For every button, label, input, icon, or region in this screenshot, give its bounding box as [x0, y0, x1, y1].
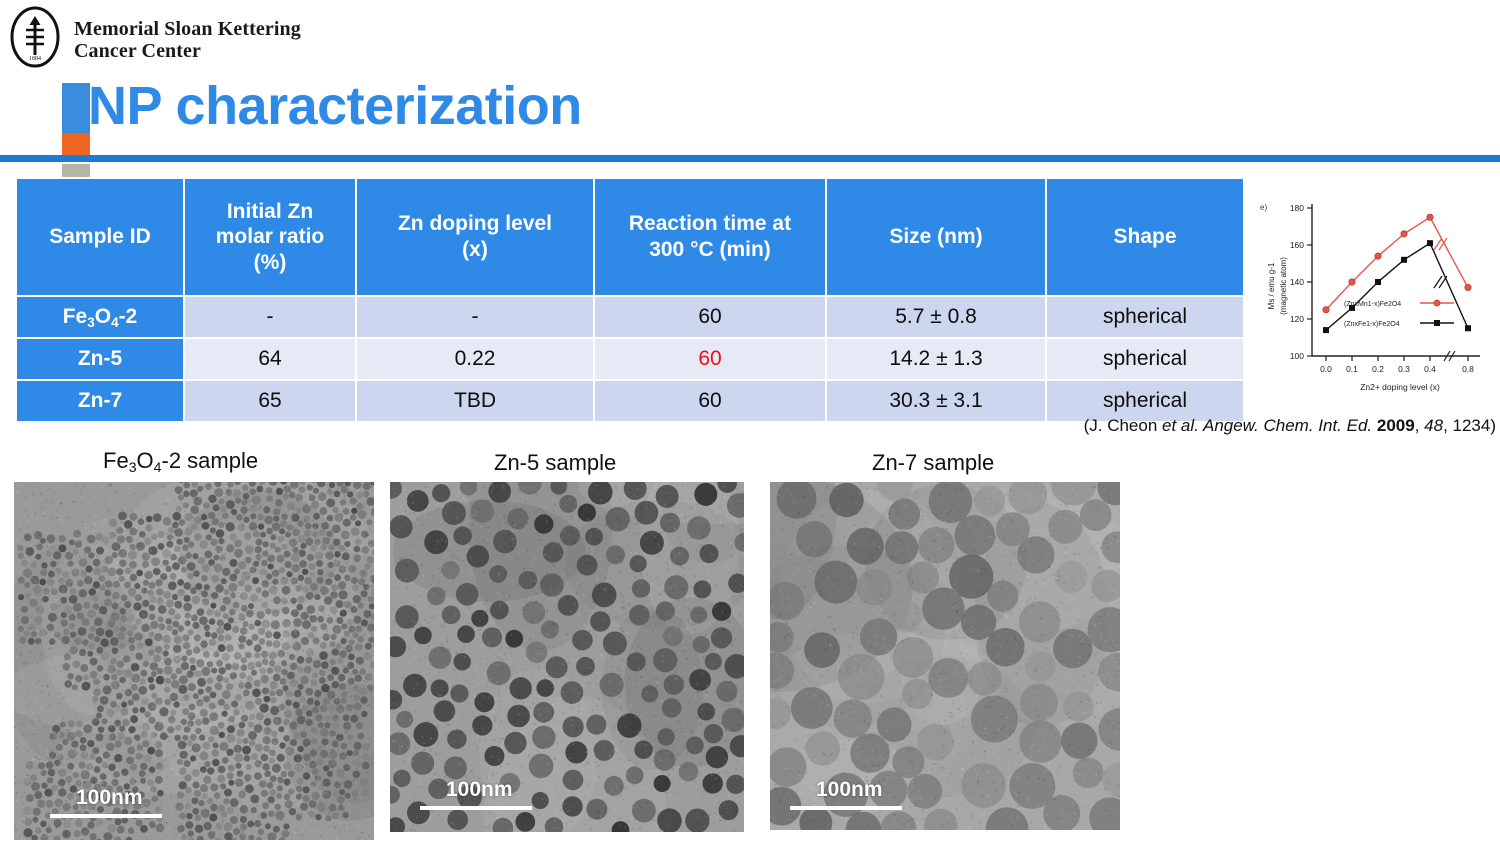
np-characterization-table: Sample ID Initial Zn molar ratio (%) Zn …: [15, 177, 1245, 423]
chart-point: [1465, 284, 1471, 290]
brand-name-line1: Memorial Sloan Kettering: [74, 18, 301, 40]
chart-point: [1323, 327, 1329, 333]
cell-size: 14.2 ± 1.3: [827, 339, 1045, 379]
citation-year: 2009: [1377, 416, 1415, 435]
tem-caption-0: Fe3O4-2 sample: [103, 448, 258, 474]
cell-sample-id: Zn-7: [17, 381, 183, 421]
cell-reaction-time: 60: [595, 297, 825, 337]
citation: (J. Cheon et al. Angew. Chem. Int. Ed. 2…: [1044, 416, 1496, 436]
svg-text:0.4: 0.4: [1424, 364, 1436, 374]
cell-reaction-time: 60: [595, 381, 825, 421]
cell-shape: spherical: [1047, 381, 1243, 421]
table-row: Fe3O4-2--605.7 ± 0.8spherical: [17, 297, 1243, 337]
svg-text:0.1: 0.1: [1346, 364, 1358, 374]
tem-image-fe3o4-2: 100nm: [14, 482, 374, 840]
chart-point: [1375, 279, 1381, 285]
msk-oval-tree-logo-icon: 1884: [6, 6, 64, 68]
page-title: NP characterization: [88, 79, 582, 133]
col-header-reaction-time: Reaction time at 300 °C (min): [595, 179, 825, 295]
svg-text:100: 100: [1290, 351, 1304, 361]
col-header-zn-doping-level: Zn doping level (x): [357, 179, 593, 295]
table-row: Zn-5640.226014.2 ± 1.3spherical: [17, 339, 1243, 379]
svg-text:120: 120: [1290, 314, 1304, 324]
tem-caption-2: Zn-7 sample: [872, 450, 994, 476]
chart-point: [1427, 214, 1433, 220]
chart-point: [1401, 231, 1407, 237]
chart-legend-label-1: (ZnxFe1-x)Fe2O4: [1344, 321, 1400, 328]
cell-shape: spherical: [1047, 339, 1243, 379]
tem-canvas-1: [390, 482, 744, 832]
svg-text:0.0: 0.0: [1320, 364, 1332, 374]
svg-text:180: 180: [1290, 203, 1304, 213]
chart-point: [1401, 257, 1407, 263]
cell-doping-level: -: [357, 297, 593, 337]
brand-name-line2: Cancer Center: [74, 40, 301, 62]
cell-sample-id: Fe3O4-2: [17, 297, 183, 337]
cell-size: 30.3 ± 3.1: [827, 381, 1045, 421]
chart-panel-label: e): [1260, 203, 1267, 212]
col-header-initial-zn-molar-ratio: Initial Zn molar ratio (%): [185, 179, 355, 295]
title-accent-blue: [62, 83, 90, 133]
chart-series-group: [1323, 214, 1471, 333]
tem-image-zn-5: 100nm: [390, 482, 744, 832]
citation-comma: ,: [1415, 416, 1424, 435]
col-header-size: Size (nm): [827, 179, 1045, 295]
chart-point: [1323, 307, 1329, 313]
chart-legend: (ZnxMn1-x)Fe2O4 (ZnxFe1-x)Fe2O4: [1344, 300, 1454, 328]
chart-xlabel: Zn2+ doping level (x): [1360, 382, 1440, 392]
citation-prefix: (J. Cheon: [1084, 416, 1162, 435]
chart-legend-label-0: (ZnxMn1-x)Fe2O4: [1344, 301, 1401, 308]
table-row: Zn-765TBD6030.3 ± 3.1spherical: [17, 381, 1243, 421]
cell-reaction-time: 60: [595, 339, 825, 379]
cell-doping-level: 0.22: [357, 339, 593, 379]
svg-text:140: 140: [1290, 277, 1304, 287]
cell-molar-ratio: -: [185, 297, 355, 337]
svg-text:0.8: 0.8: [1462, 364, 1474, 374]
svg-text:0.2: 0.2: [1372, 364, 1384, 374]
chart-point: [1375, 253, 1381, 259]
tem-canvas-0: [14, 482, 374, 840]
chart-svg: e) 100120140160180 0.00.10.20.30.40.8 Ms…: [1248, 186, 1496, 398]
table-header-row: Sample ID Initial Zn molar ratio (%) Zn …: [17, 179, 1243, 295]
title-accent-grey: [62, 164, 90, 177]
cell-sample-id: Zn-5: [17, 339, 183, 379]
chart-point: [1427, 240, 1433, 246]
title-divider: [0, 155, 1500, 162]
svg-text:0.3: 0.3: [1398, 364, 1410, 374]
logo-year-text: 1884: [29, 56, 41, 62]
cell-molar-ratio: 64: [185, 339, 355, 379]
svg-text:160: 160: [1290, 240, 1304, 250]
citation-volume: 48: [1424, 416, 1443, 435]
chart-point: [1349, 279, 1355, 285]
cell-doping-level: TBD: [357, 381, 593, 421]
chart-ylabel-line2: (magnetic atom): [1279, 257, 1288, 315]
cell-size: 5.7 ± 0.8: [827, 297, 1045, 337]
tem-image-zn-7: 100nm: [770, 482, 1120, 830]
chart-point: [1465, 325, 1471, 331]
cell-shape: spherical: [1047, 297, 1243, 337]
citation-pages: , 1234): [1443, 416, 1496, 435]
chart-line-0: [1326, 217, 1468, 310]
tem-canvas-2: [770, 482, 1120, 830]
brand-name: Memorial Sloan Kettering Cancer Center: [74, 18, 301, 63]
col-header-sample-id: Sample ID: [17, 179, 183, 295]
chart-ylabel-line1: Ms / emu g-1: [1267, 262, 1276, 309]
magnetization-vs-doping-chart: e) 100120140160180 0.00.10.20.30.40.8 Ms…: [1248, 186, 1496, 398]
tem-caption-1: Zn-5 sample: [494, 450, 616, 476]
msk-logo: 1884 Memorial Sloan Kettering Cancer Cen…: [6, 6, 301, 68]
table-body: Fe3O4-2--605.7 ± 0.8sphericalZn-5640.226…: [17, 297, 1243, 421]
citation-journal: et al. Angew. Chem. Int. Ed.: [1162, 416, 1372, 435]
col-header-shape: Shape: [1047, 179, 1243, 295]
chart-y-ticks: 100120140160180: [1290, 203, 1312, 361]
cell-molar-ratio: 65: [185, 381, 355, 421]
